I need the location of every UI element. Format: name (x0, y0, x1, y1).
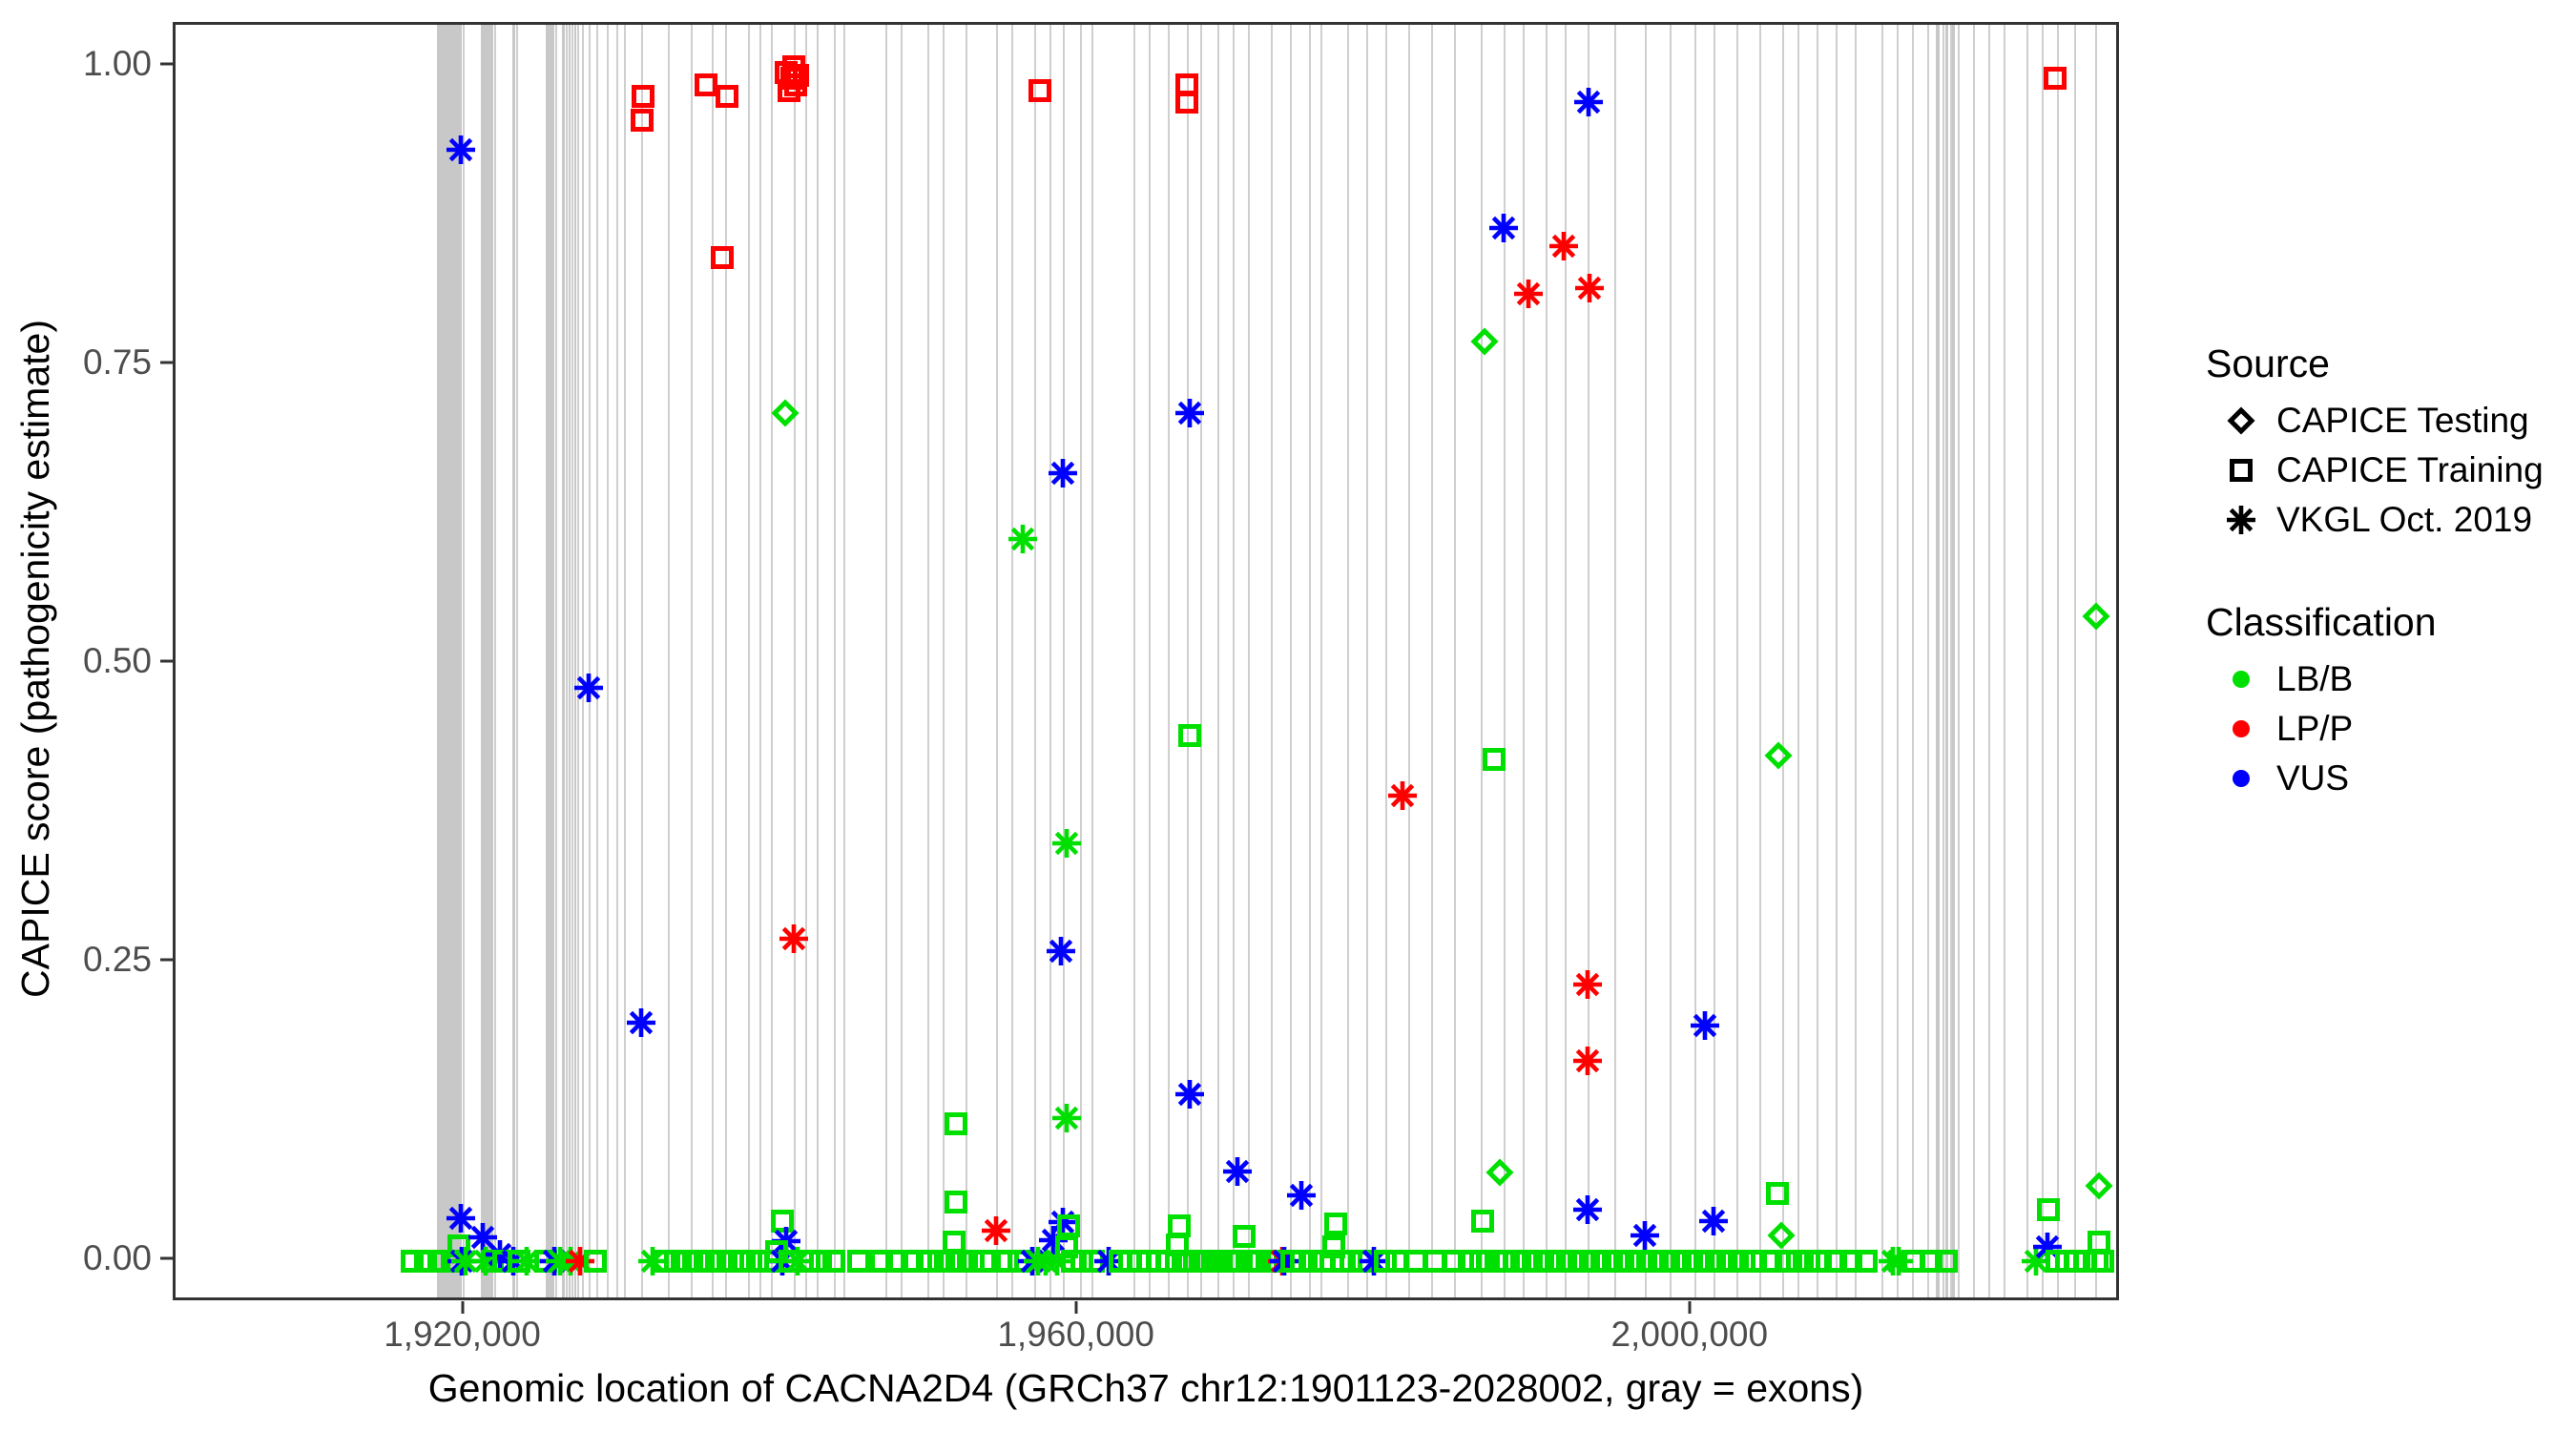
x-tick-mark (1074, 1301, 1077, 1314)
legend-title-source: Source (2206, 342, 2568, 386)
legend-item-source[interactable]: CAPICE Testing (2206, 396, 2568, 446)
legend-label: VUS (2276, 758, 2349, 798)
legend-label: CAPICE Testing (2276, 401, 2529, 441)
x-tick-label: 2,000,000 (1610, 1315, 1768, 1355)
legend-item-classification[interactable]: LP/P (2206, 704, 2568, 754)
dot-icon (2206, 716, 2276, 741)
legend-group-classification: LB/BLP/PVUS (2206, 654, 2568, 803)
x-tick-label: 1,920,000 (384, 1315, 541, 1355)
legend-label: VKGL Oct. 2019 (2276, 500, 2532, 540)
legend-label: LP/P (2276, 709, 2353, 749)
x-axis-ticks: 1,920,0001,960,0002,000,000 (0, 0, 2576, 1431)
legend-item-source[interactable]: CAPICE Training (2206, 446, 2568, 495)
legend-label: CAPICE Training (2276, 450, 2544, 490)
asterisk-icon (2206, 504, 2276, 536)
legend-spacer (2206, 545, 2568, 600)
legend-group-source: CAPICE TestingCAPICE TrainingVKGL Oct. 2… (2206, 396, 2568, 545)
dot-icon (2206, 667, 2276, 692)
legend-item-source[interactable]: VKGL Oct. 2019 (2206, 495, 2568, 545)
x-tick-mark (461, 1301, 464, 1314)
legend-title-classification: Classification (2206, 600, 2568, 645)
chart-root: CAPICE score (pathogenicity estimate) 0.… (0, 0, 2576, 1431)
legend-item-classification[interactable]: VUS (2206, 754, 2568, 803)
x-tick-label: 1,960,000 (997, 1315, 1154, 1355)
x-tick-mark (1688, 1301, 1691, 1314)
legend-item-classification[interactable]: LB/B (2206, 654, 2568, 704)
square-icon (2206, 458, 2276, 483)
x-axis-title: Genomic location of CACNA2D4 (GRCh37 chr… (173, 1366, 2119, 1411)
legend: Source CAPICE TestingCAPICE TrainingVKGL… (2206, 342, 2568, 803)
dot-icon (2206, 766, 2276, 791)
legend-label: LB/B (2276, 659, 2353, 699)
diamond-icon (2206, 406, 2276, 435)
